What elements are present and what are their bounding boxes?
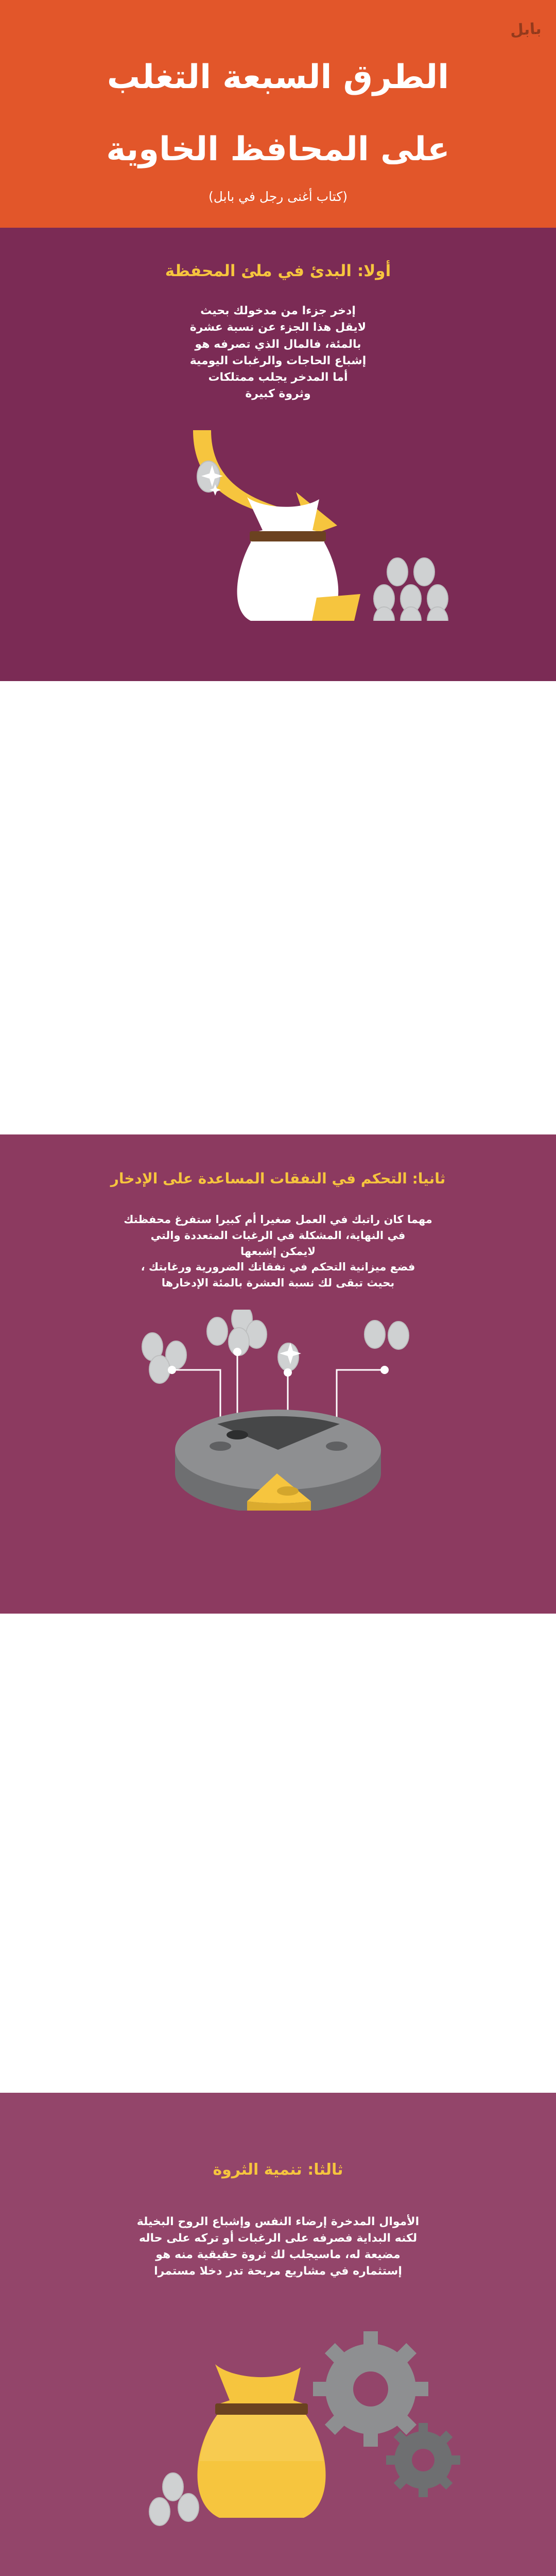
section-3-body: الأموال المدخرة إرضاء النفس وإشباع الروح…	[0, 2214, 556, 2280]
header-band: بابل الطرق السبعة التغلب على المحافظ الخ…	[0, 0, 556, 228]
gold-sack-gears-illustration	[0, 2307, 556, 2528]
section-2-body: مهما كان راتبك في العمل صغيرا أم كبيرا س…	[0, 1212, 556, 1291]
section-1: أولا: البدئ في ملئ المحفظة إدخر جزءا من …	[0, 228, 556, 681]
section-2: ثانيا: التحكم في النفقات المساعدة على ال…	[0, 1134, 556, 1614]
section-2-title: ثانيا: التحكم في النفقات المساعدة على ال…	[0, 1134, 556, 1188]
section-1-title: أولا: البدئ في ملئ المحفظة	[0, 228, 556, 281]
infographic-page: بابل الطرق السبعة التغلب على المحافظ الخ…	[0, 0, 556, 2576]
section-3: ثالثا: تنمية الثروة الأموال المدخرة إرضا…	[0, 2093, 556, 2576]
page-title: الطرق السبعة التغلب على المحافظ الخاوية	[0, 56, 556, 172]
page-subtitle: (كتاب أغنى رجل في بابل)	[0, 189, 556, 209]
money-bag-coins-illustration	[0, 415, 556, 621]
pie-chart-coins-illustration	[0, 1310, 556, 1511]
watermark-label: بابل	[510, 20, 542, 39]
page-title-line1: الطرق السبعة التغلب	[31, 56, 525, 99]
section-1-body: إدخر جزءا من مدخولك بحيث لايقل هذا الجزء…	[0, 303, 556, 402]
page-title-line2: على المحافظ الخاوية	[31, 128, 525, 171]
section-3-title: ثالثا: تنمية الثروة	[0, 2093, 556, 2180]
